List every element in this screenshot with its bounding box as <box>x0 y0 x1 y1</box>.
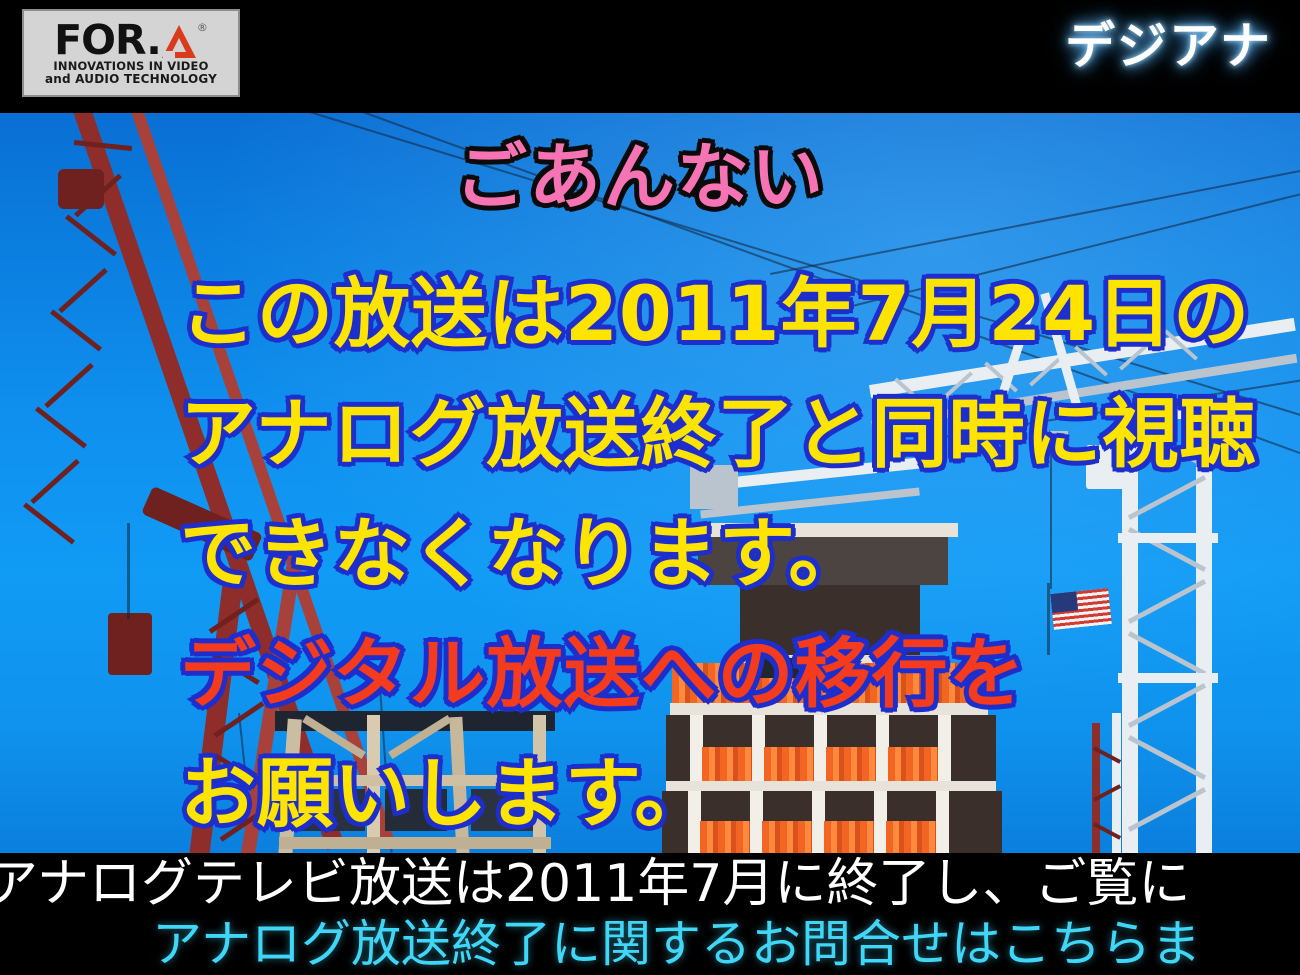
background-photo <box>0 113 1300 853</box>
logo-a-mark-icon <box>162 25 196 59</box>
building-under-construction <box>680 523 1070 853</box>
timber-scaffold <box>275 711 555 853</box>
broadcast-screen: FOR. ® INNOVATIONS IN VIDEO and AUDIO TE… <box>0 0 1300 975</box>
top-black-bar: FOR. ® INNOVATIONS IN VIDEO and AUDIO TE… <box>0 0 1300 113</box>
hoist-block <box>755 658 799 678</box>
fora-logo: FOR. ® INNOVATIONS IN VIDEO and AUDIO TE… <box>22 9 240 97</box>
ticker-text-secondary: アナログ放送終了に関するお問合せはこちらま <box>152 915 1201 973</box>
registered-trademark-icon: ® <box>197 22 208 33</box>
crane-hook <box>108 613 152 675</box>
counterweight <box>690 465 738 509</box>
channel-label: デジアナ <box>1065 16 1272 76</box>
safety-netting <box>672 663 982 703</box>
logo-text: FOR. <box>54 20 161 60</box>
logo-wordmark: FOR. ® <box>54 20 208 60</box>
crane-hub <box>58 169 104 209</box>
bottom-ticker-bar: アナログテレビ放送は2011年7月に終了し、ご覧に アナログ放送終了に関するお問… <box>0 853 1300 975</box>
logo-tagline-line2: and AUDIO TECHNOLOGY <box>45 73 217 86</box>
ticker-text-primary: アナログテレビ放送は2011年7月に終了し、ご覧に <box>0 854 1190 914</box>
crane-cab <box>1086 445 1130 489</box>
